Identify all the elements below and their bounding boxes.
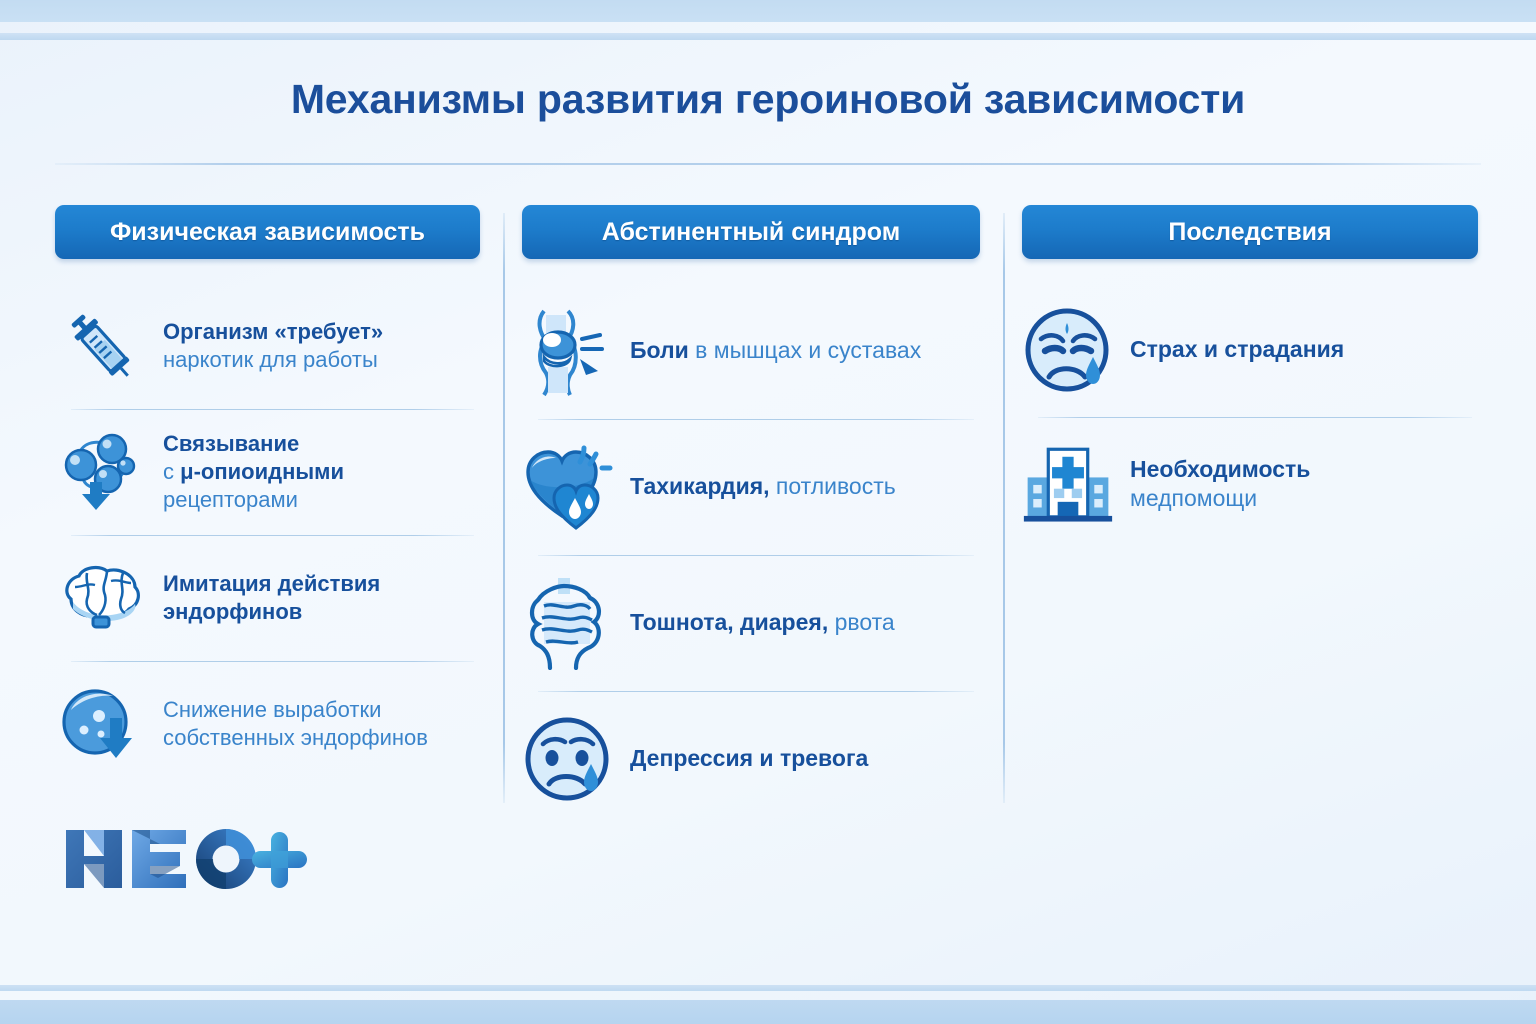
declining-endorphins-icon — [55, 678, 147, 770]
top-rule — [0, 33, 1536, 40]
list-item-label: Депрессия и тревога — [630, 744, 868, 773]
list-item[interactable]: Имитация действия эндорфинов — [55, 535, 480, 661]
list-item[interactable]: Тошнота, диарея, рвота — [522, 555, 980, 691]
column-consequences: Последствия — [1022, 205, 1478, 551]
joint-pain-icon — [522, 305, 614, 397]
column-header-consequences: Последствия — [1022, 205, 1478, 259]
items-list-withdrawal-syndrome: Боли в мышцах и суставах — [522, 283, 980, 827]
list-item[interactable]: Снижение выработки собственных эндорфино… — [55, 661, 480, 787]
list-item-label: Связывание с μ-опиоидными рецепторами — [163, 430, 344, 514]
list-item-label: Боли в мышцах и суставах — [630, 336, 921, 365]
neo-plus-logo[interactable] — [60, 818, 310, 900]
list-item[interactable]: Боли в мышцах и суставах — [522, 283, 980, 419]
list-item[interactable]: Тахикардия, потливость — [522, 419, 980, 555]
bottom-rule — [0, 985, 1536, 991]
molecule-receptor-icon — [55, 426, 147, 518]
column-withdrawal-syndrome: Абстинентный синдром — [522, 205, 980, 827]
list-item-label: Тошнота, диарея, рвота — [630, 608, 895, 637]
list-item-label: Снижение выработки собственных эндорфино… — [163, 696, 428, 752]
list-item[interactable]: Организм «требует» наркотик для работы — [55, 283, 480, 409]
sad-face-icon — [522, 713, 614, 805]
list-item[interactable]: Депрессия и тревога — [522, 691, 980, 827]
list-item-label: Страх и страдания — [1130, 335, 1344, 364]
items-list-consequences: Страх и страдания — [1022, 283, 1478, 551]
list-item-label: Организм «требует» наркотик для работы — [163, 318, 383, 374]
list-item-label: Имитация действия эндорфинов — [163, 570, 380, 626]
crying-face-icon — [1022, 304, 1114, 396]
items-list-physical-dependence: Организм «требует» наркотик для работы — [55, 283, 480, 787]
column-physical-dependence: Физическая зависимость — [55, 205, 480, 787]
columns-container: Физическая зависимость — [0, 205, 1536, 825]
page-title: Механизмы развития героиновой зависимост… — [0, 76, 1536, 123]
list-item[interactable]: Необходимость медпомощи — [1022, 417, 1478, 551]
syringe-icon — [55, 300, 147, 392]
heart-sweat-icon — [522, 441, 614, 533]
hospital-icon — [1022, 438, 1114, 530]
list-item[interactable]: Страх и страдания — [1022, 283, 1478, 417]
column-header-physical-dependence: Физическая зависимость — [55, 205, 480, 259]
column-divider-1 — [503, 213, 505, 803]
list-item-label: Тахикардия, потливость — [630, 472, 896, 501]
list-item[interactable]: Связывание с μ-опиоидными рецепторами — [55, 409, 480, 535]
column-divider-2 — [1003, 213, 1005, 803]
infographic-page: Механизмы развития героиновой зависимост… — [0, 0, 1536, 1024]
top-decorative-band — [0, 0, 1536, 22]
brain-icon — [55, 552, 147, 644]
intestine-icon — [522, 577, 614, 669]
column-header-withdrawal-syndrome: Абстинентный синдром — [522, 205, 980, 259]
title-divider — [55, 163, 1481, 165]
list-item-label: Необходимость медпомощи — [1130, 455, 1310, 514]
bottom-decorative-band — [0, 1000, 1536, 1024]
